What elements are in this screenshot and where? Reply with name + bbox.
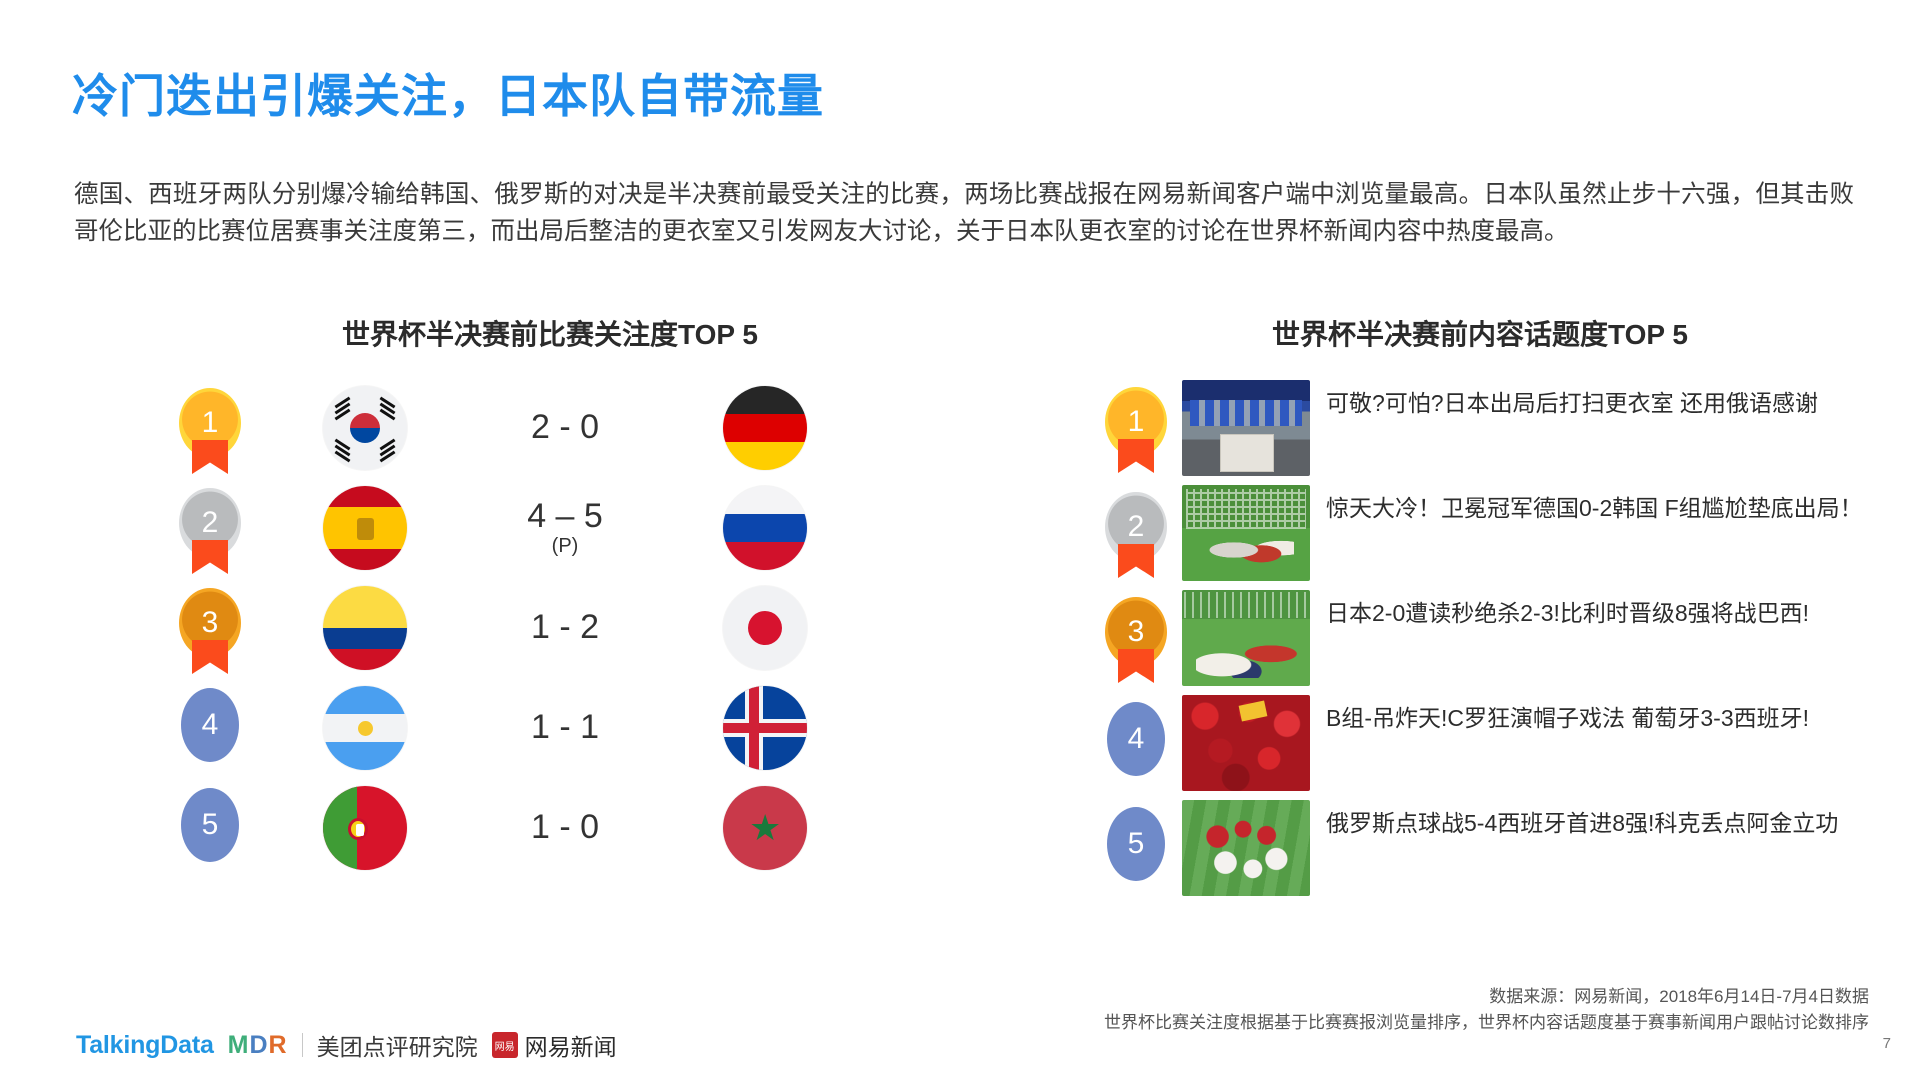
logo-mdr-m: M: [228, 1031, 250, 1059]
left-section-heading: 世界杯半决赛前比赛关注度TOP 5: [130, 313, 970, 353]
list-item[interactable]: 1 可敬?可怕?日本出局后打扫更衣室 还用俄语感谢: [1090, 380, 1910, 485]
away-flag-cell: [670, 386, 860, 470]
table-row[interactable]: 1: [150, 378, 970, 478]
away-flag-cell: [670, 586, 860, 670]
rank-number: 5: [181, 788, 239, 862]
medal-silver-icon: 2: [179, 488, 241, 568]
away-flag-cell: [670, 486, 860, 570]
news-headline[interactable]: 可敬?可怕?日本出局后打扫更衣室 还用俄语感谢: [1310, 380, 1910, 420]
rank-badge-4: 4: [179, 688, 241, 768]
news-headline[interactable]: B组-吊炸天!C罗狂演帽子戏法 葡萄牙3-3西班牙!: [1310, 695, 1910, 735]
score-value: 1 - 2: [531, 608, 599, 646]
rank-cell: 3: [1090, 590, 1182, 677]
medal-gold-icon: 1: [179, 388, 241, 468]
score-cell: 4 – 5 (P): [460, 499, 670, 558]
table-row[interactable]: 4 1 - 1: [150, 678, 970, 778]
table-row[interactable]: 2 4 – 5 (P): [150, 478, 970, 578]
score-cell: 1 - 2: [460, 610, 670, 646]
right-section-heading: 世界杯半决赛前内容话题度TOP 5: [1060, 313, 1900, 353]
logo-netease: 网易 网易新闻: [492, 1028, 617, 1062]
ribbon-icon: [192, 640, 228, 674]
logo-meituan-research: 美团点评研究院: [317, 1028, 478, 1062]
netease-mark-icon: 网易: [492, 1032, 518, 1058]
flag-russia-icon: [723, 486, 807, 570]
slide-page: 冷门迭出引爆关注，日本队自带流量 德国、西班牙两队分别爆冷输给韩国、俄罗斯的对决…: [0, 0, 1921, 1080]
logo-talkingdata: TalkingData: [76, 1031, 214, 1060]
table-row[interactable]: 3 1 - 2: [150, 578, 970, 678]
score-value: 4 – 5: [527, 497, 603, 535]
flag-portugal-icon: [323, 786, 407, 870]
news-thumbnail[interactable]: [1182, 800, 1310, 896]
score-cell: 1 - 0: [460, 810, 670, 846]
rank-cell: 5: [150, 788, 270, 868]
flag-spain-icon: [323, 486, 407, 570]
home-flag-cell: [270, 686, 460, 770]
list-item[interactable]: 3 日本2-0遭读秒绝杀2-3!比利时晋级8强将战巴西!: [1090, 590, 1910, 695]
data-source-note: 数据来源：网易新闻，2018年6月14日-7月4日数据: [1489, 982, 1869, 1007]
news-topic-list: 1 可敬?可怕?日本出局后打扫更衣室 还用俄语感谢 2 惊天大冷！卫冕冠军德国0…: [1090, 380, 1910, 905]
news-thumbnail[interactable]: [1182, 695, 1310, 791]
medal-bronze-icon: 3: [179, 588, 241, 668]
table-row[interactable]: 5 1 - 0 ★: [150, 778, 970, 878]
flag-argentina-icon: [323, 686, 407, 770]
rank-badge-5: 5: [179, 788, 241, 868]
list-item[interactable]: 5 俄罗斯点球战5-4西班牙首进8强!科克丢点阿金立功: [1090, 800, 1910, 905]
rank-number: 5: [1107, 807, 1165, 881]
match-attention-list: 1: [150, 378, 970, 878]
rank-number: 4: [181, 688, 239, 762]
intro-paragraph: 德国、西班牙两队分别爆冷输给韩国、俄罗斯的对决是半决赛前最受关注的比赛，两场比赛…: [74, 176, 1854, 250]
news-thumbnail[interactable]: [1182, 380, 1310, 476]
page-number: 7: [1883, 1035, 1891, 1052]
logo-mdr: MDR: [228, 1031, 288, 1060]
home-flag-cell: [270, 586, 460, 670]
ribbon-icon: [192, 440, 228, 474]
logo-mdr-r: R: [269, 1031, 288, 1059]
rank-cell: 4: [150, 688, 270, 768]
page-title: 冷门迭出引爆关注，日本队自带流量: [72, 60, 824, 126]
away-flag-cell: ★: [670, 786, 860, 870]
rank-badge-4: 4: [1105, 702, 1167, 782]
rank-number: 4: [1107, 702, 1165, 776]
flag-south-korea-icon: [323, 386, 407, 470]
ribbon-icon: [1118, 439, 1154, 473]
home-flag-cell: [270, 386, 460, 470]
footer-logos: TalkingData MDR 美团点评研究院 网易 网易新闻: [76, 1028, 617, 1062]
methodology-note: 世界杯比赛关注度根据基于比赛赛报浏览量排序，世界杯内容话题度基于赛事新闻用户跟帖…: [1104, 1008, 1869, 1033]
flag-japan-icon: [723, 586, 807, 670]
flag-morocco-icon: ★: [723, 786, 807, 870]
flag-colombia-icon: [323, 586, 407, 670]
list-item[interactable]: 2 惊天大冷！卫冕冠军德国0-2韩国 F组尴尬垫底出局！: [1090, 485, 1910, 590]
list-item[interactable]: 4 B组-吊炸天!C罗狂演帽子戏法 葡萄牙3-3西班牙!: [1090, 695, 1910, 800]
news-headline[interactable]: 惊天大冷！卫冕冠军德国0-2韩国 F组尴尬垫底出局！: [1310, 485, 1910, 525]
rank-cell: 1: [1090, 380, 1182, 467]
home-flag-cell: [270, 486, 460, 570]
rank-cell: 1: [150, 388, 270, 468]
news-thumbnail[interactable]: [1182, 485, 1310, 581]
flag-iceland-icon: [723, 686, 807, 770]
logo-divider: [302, 1033, 303, 1057]
medal-gold-icon: 1: [1105, 387, 1167, 467]
score-cell: 1 - 1: [460, 710, 670, 746]
rank-cell: 2: [1090, 485, 1182, 572]
away-flag-cell: [670, 686, 860, 770]
score-cell: 2 - 0: [460, 410, 670, 446]
rank-cell: 5: [1090, 800, 1182, 887]
score-value: 1 - 0: [531, 808, 599, 846]
ribbon-icon: [1118, 649, 1154, 683]
rank-cell: 3: [150, 588, 270, 668]
news-headline[interactable]: 日本2-0遭读秒绝杀2-3!比利时晋级8强将战巴西!: [1310, 590, 1910, 630]
rank-badge-5: 5: [1105, 807, 1167, 887]
ribbon-icon: [1118, 544, 1154, 578]
news-thumbnail[interactable]: [1182, 590, 1310, 686]
ribbon-icon: [192, 540, 228, 574]
logo-netease-label: 网易新闻: [525, 1028, 617, 1062]
penalty-note: (P): [460, 536, 670, 557]
logo-mdr-d: D: [249, 1031, 268, 1059]
score-value: 1 - 1: [531, 708, 599, 746]
rank-cell: 2: [150, 488, 270, 568]
rank-cell: 4: [1090, 695, 1182, 782]
news-headline[interactable]: 俄罗斯点球战5-4西班牙首进8强!科克丢点阿金立功: [1310, 800, 1910, 840]
medal-silver-icon: 2: [1105, 492, 1167, 572]
home-flag-cell: [270, 786, 460, 870]
flag-germany-icon: [723, 386, 807, 470]
score-value: 2 - 0: [531, 408, 599, 446]
medal-bronze-icon: 3: [1105, 597, 1167, 677]
